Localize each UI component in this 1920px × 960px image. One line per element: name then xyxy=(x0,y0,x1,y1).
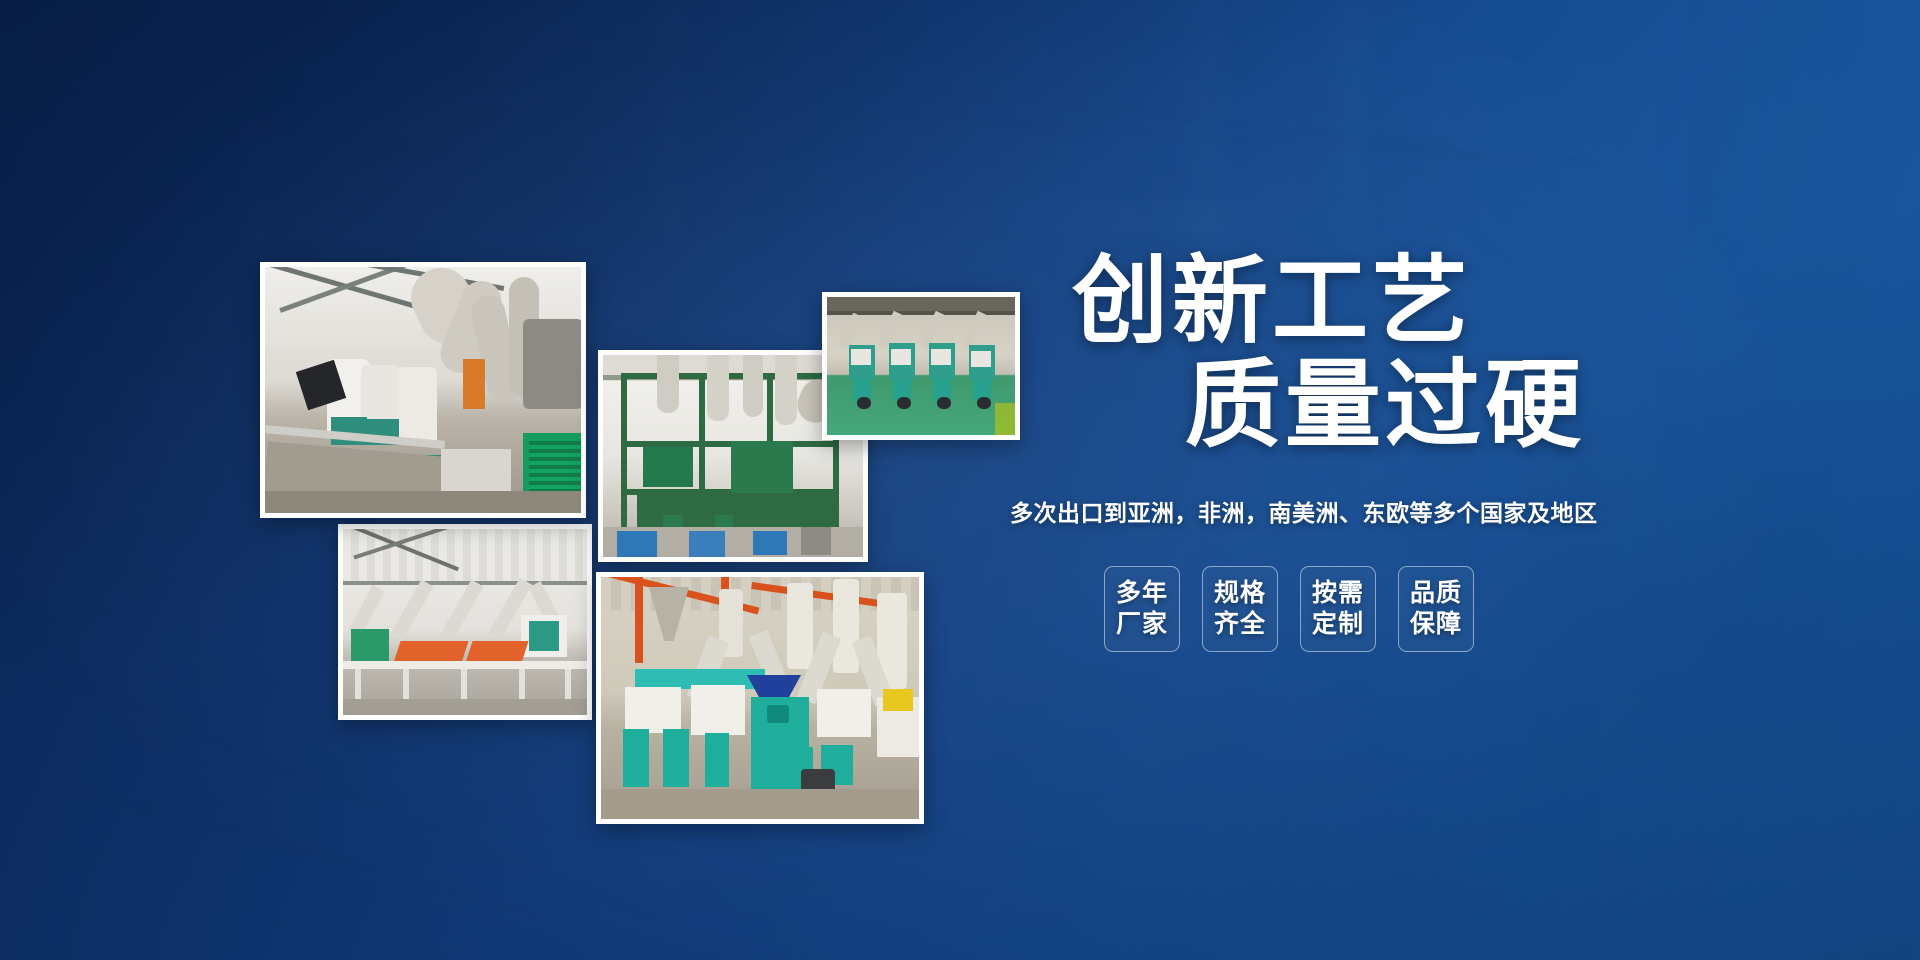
badge-label-line1: 按需 xyxy=(1312,578,1364,609)
feature-badge-list: 多年 厂家 规格 齐全 按需 定制 品质 保障 xyxy=(1104,566,1900,652)
badge-label-line2: 定制 xyxy=(1312,609,1364,640)
banner-subtitle: 多次出口到亚洲，非洲，南美洲、东欧等多个国家及地区 xyxy=(1010,494,1900,528)
platform-hopper-line-photo xyxy=(338,524,592,720)
promo-banner: 创新工艺 质量过硬 多次出口到亚洲，非洲，南美洲、东欧等多个国家及地区 多年 厂… xyxy=(0,0,1920,960)
feature-badge-years-manufacturer: 多年 厂家 xyxy=(1104,566,1180,652)
teal-machines-green-floor-photo xyxy=(822,292,1020,440)
teal-mill-orange-beam-photo xyxy=(596,572,924,824)
feature-badge-quality-guarantee: 品质 保障 xyxy=(1398,566,1474,652)
badge-label-line2: 厂家 xyxy=(1116,609,1168,640)
badge-label-line1: 品质 xyxy=(1410,578,1462,609)
grey-milling-line-photo xyxy=(260,262,586,518)
feature-badge-custom-made: 按需 定制 xyxy=(1300,566,1376,652)
badge-label-line1: 规格 xyxy=(1214,578,1266,609)
feature-badge-full-specifications: 规格 齐全 xyxy=(1202,566,1278,652)
badge-label-line2: 保障 xyxy=(1410,609,1462,640)
headline-line-2: 质量过硬 xyxy=(1185,354,1900,458)
badge-label-line2: 齐全 xyxy=(1214,609,1266,640)
badge-label-line1: 多年 xyxy=(1116,578,1168,609)
product-photo-collage xyxy=(0,0,1060,960)
banner-text-block: 创新工艺 质量过硬 多次出口到亚洲，非洲，南美洲、东欧等多个国家及地区 多年 厂… xyxy=(1000,250,1900,652)
headline-line-1: 创新工艺 xyxy=(1072,250,1900,354)
